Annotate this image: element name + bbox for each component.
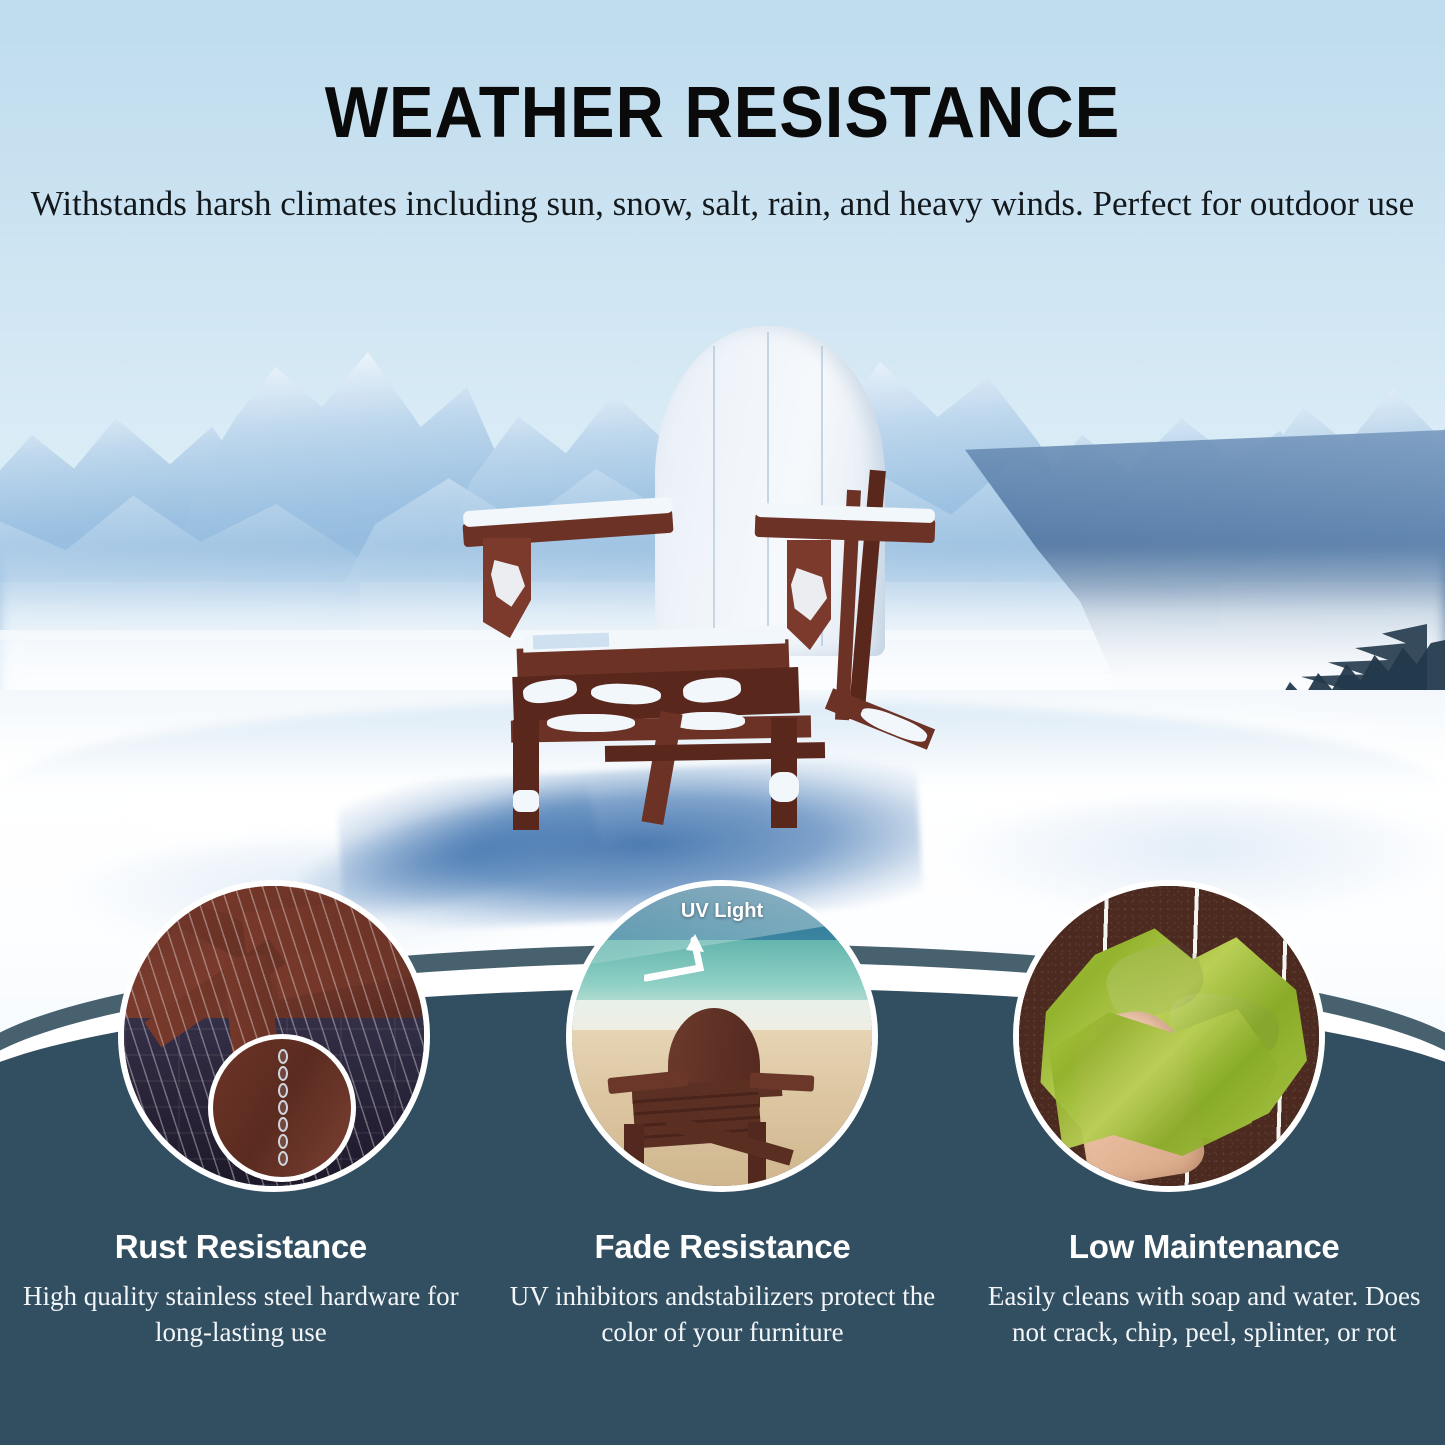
hero-product-chair <box>455 320 945 830</box>
feature-image-fade-resistance: UV Light <box>566 880 878 1192</box>
feature-title: Rust Resistance <box>22 1228 460 1266</box>
uv-light-label: UV Light <box>681 900 763 923</box>
hardware-detail-inset <box>208 1034 356 1182</box>
page-title: WEATHER RESISTANCE <box>51 72 1395 154</box>
feature-image-rust-resistance <box>118 880 430 1192</box>
feature-image-low-maintenance <box>1013 880 1325 1192</box>
uv-arrow-icon <box>644 932 740 996</box>
feature-card-fade-resistance: Fade Resistance UV inhibitors andstabili… <box>482 1228 964 1443</box>
feature-card-rust-resistance: Rust Resistance High quality stainless s… <box>0 1228 482 1443</box>
feature-description: Easily cleans with soap and water. Does … <box>985 1278 1423 1350</box>
weather-resistance-infographic: UV Light WEATHER RESISTANCE Withstands h… <box>0 0 1445 1445</box>
feature-description: UV inhibitors andstabilizers protect the… <box>504 1278 942 1350</box>
page-subtitle: Withstands harsh climates including sun,… <box>0 178 1445 229</box>
feature-cards: Rust Resistance High quality stainless s… <box>0 1228 1445 1443</box>
feature-title: Fade Resistance <box>504 1228 942 1266</box>
stainless-chain-icon <box>278 1049 288 1177</box>
feature-description: High quality stainless steel hardware fo… <box>22 1278 460 1350</box>
feature-card-low-maintenance: Low Maintenance Easily cleans with soap … <box>963 1228 1445 1443</box>
feature-title: Low Maintenance <box>985 1228 1423 1266</box>
